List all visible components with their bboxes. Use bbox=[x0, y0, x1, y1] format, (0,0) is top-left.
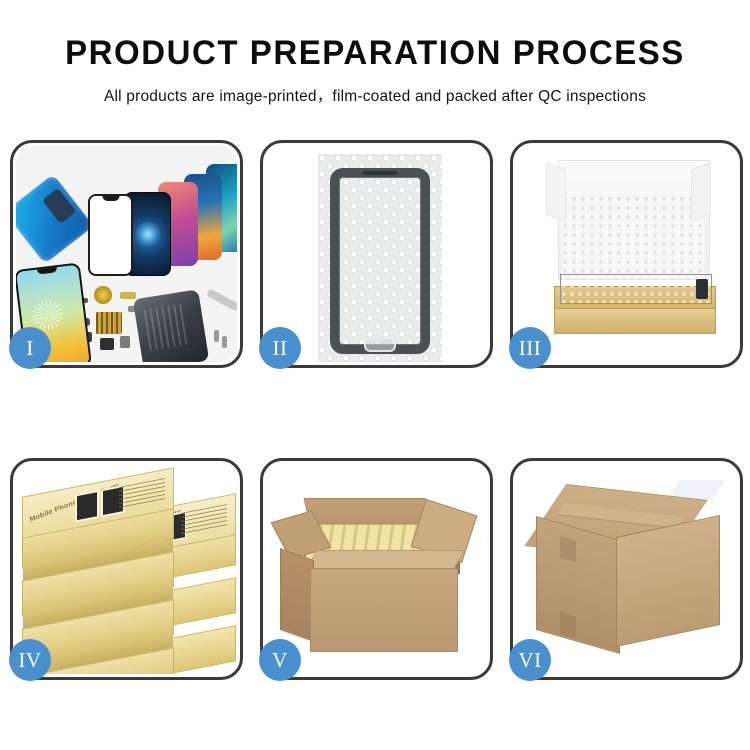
steps-row-bottom: Mobile Phone Spare Parts Mobile Phone Sp… bbox=[10, 458, 743, 680]
mailer-box-front-icon bbox=[554, 308, 716, 334]
step-1-image bbox=[16, 146, 237, 362]
step-badge-5: V bbox=[259, 639, 301, 681]
step-panel-1[interactable]: I bbox=[10, 140, 243, 368]
stacked-boxes-illustration: Mobile Phone Spare Parts Mobile Phone Sp… bbox=[16, 464, 237, 674]
step-6-image bbox=[516, 464, 737, 674]
page-subtitle: All products are image-printed，film-coat… bbox=[0, 84, 750, 106]
bubble-wrapped-screen-illustration bbox=[266, 146, 487, 362]
box-artwork-screen-icon bbox=[75, 490, 99, 523]
phone-housing-icon bbox=[133, 289, 209, 362]
step-panel-6[interactable]: VI bbox=[510, 458, 743, 680]
carton-handle-slot-icon bbox=[560, 536, 576, 563]
step-badge-2: II bbox=[259, 327, 301, 369]
step-2-image bbox=[266, 146, 487, 362]
step-5-image bbox=[266, 464, 487, 674]
bubble-wrap-icon bbox=[318, 154, 442, 362]
steps-row-top: I II bbox=[10, 140, 743, 368]
product-preparation-infographic: PRODUCT PREPARATION PROCESS All products… bbox=[0, 0, 750, 750]
page-title: PRODUCT PREPARATION PROCESS bbox=[11, 36, 739, 70]
steps-grid: I II bbox=[10, 140, 743, 685]
phones-and-parts-illustration bbox=[16, 146, 237, 362]
mailer-left-flap-icon bbox=[546, 163, 566, 221]
carton-front-icon bbox=[310, 568, 458, 652]
sealed-carton-illustration bbox=[516, 464, 737, 674]
step-panel-4[interactable]: Mobile Phone Spare Parts Mobile Phone Sp… bbox=[10, 458, 243, 680]
phone-back-cover-icon bbox=[16, 174, 94, 264]
coil-part-icon bbox=[94, 286, 112, 304]
carton-left-face-icon bbox=[536, 516, 620, 654]
step-badge-1: I bbox=[9, 327, 51, 369]
phone-glass-white-icon bbox=[88, 194, 133, 276]
button-part-icon bbox=[120, 336, 130, 348]
chip-part-icon bbox=[96, 312, 122, 334]
foam-lining-icon bbox=[562, 196, 704, 278]
step-panel-3[interactable]: III bbox=[510, 140, 743, 368]
carton-left-side-icon bbox=[280, 548, 314, 642]
carton-right-face-icon bbox=[616, 515, 720, 647]
wrapped-screen-icon bbox=[560, 274, 712, 304]
step-panel-2[interactable]: II bbox=[260, 140, 493, 368]
mailer-box-illustration bbox=[516, 146, 737, 362]
tweezers-part-icon bbox=[206, 288, 237, 311]
step-3-image bbox=[516, 146, 737, 362]
phone-glass-icon bbox=[330, 168, 430, 354]
carton-handle-slot-icon bbox=[560, 612, 576, 639]
speaker-part-icon bbox=[100, 338, 114, 350]
mailer-right-flap-icon bbox=[691, 163, 711, 221]
header: PRODUCT PREPARATION PROCESS All products… bbox=[0, 0, 750, 106]
box-stack-icon: Mobile Phone Spare Parts Mobile Phone Sp… bbox=[22, 482, 237, 674]
step-badge-3: III bbox=[509, 327, 551, 369]
open-carton-illustration bbox=[266, 464, 487, 674]
box-spec-lines-icon bbox=[181, 504, 227, 537]
step-4-image: Mobile Phone Spare Parts Mobile Phone Sp… bbox=[16, 464, 237, 674]
step-badge-6: VI bbox=[509, 639, 551, 681]
step-panel-5[interactable]: V bbox=[260, 458, 493, 680]
screw-part-icon bbox=[222, 336, 227, 348]
box-spec-lines-icon bbox=[119, 478, 165, 511]
screwdriver-part-icon bbox=[214, 330, 219, 342]
gold-contact-part-icon bbox=[120, 292, 136, 299]
step-badge-4: IV bbox=[9, 639, 51, 681]
